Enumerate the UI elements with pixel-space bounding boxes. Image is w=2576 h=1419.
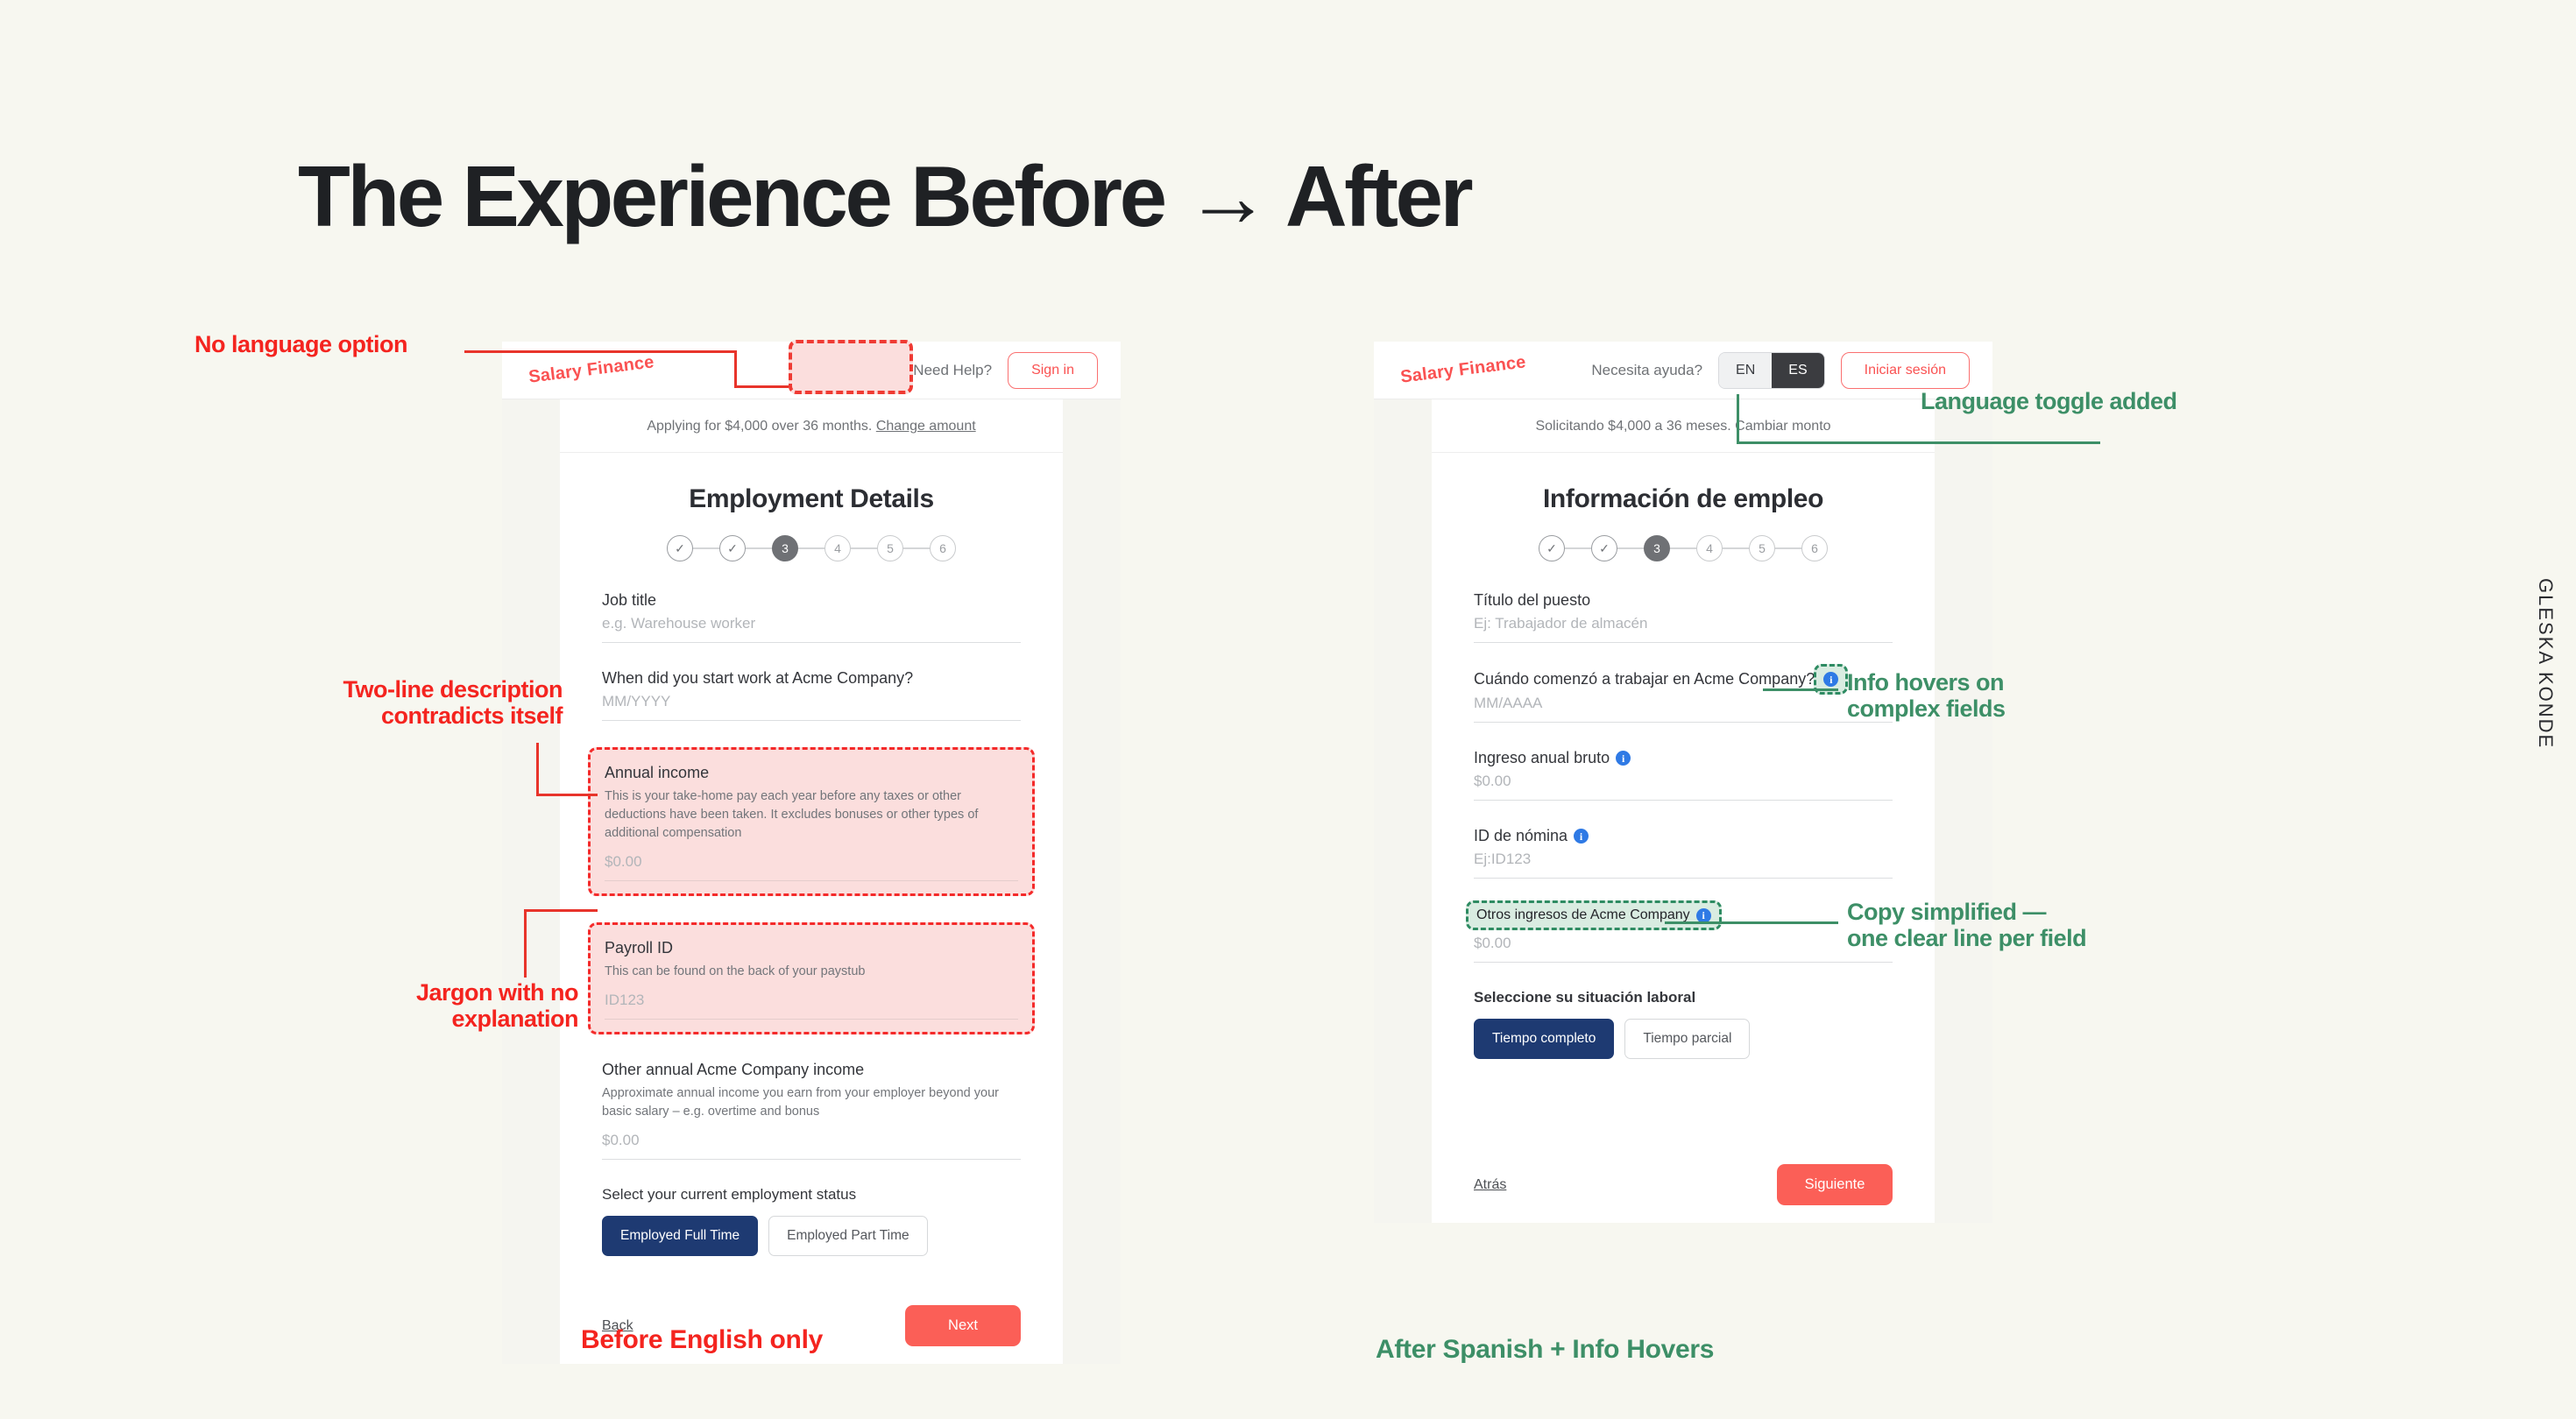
after-body-shell: Solicitando $4,000 a 36 meses. Cambiar m… <box>1374 399 1992 1223</box>
step-divider <box>1565 547 1591 549</box>
employment-status-label: Seleccione su situación laboral <box>1474 989 1893 1006</box>
need-help-link[interactable]: Need Help? <box>913 362 992 379</box>
job-title-input[interactable]: e.g. Warehouse worker <box>602 615 1021 643</box>
annotation-jargon: Jargon with no explanation <box>280 979 578 1032</box>
field-label: Annual income <box>605 764 1018 782</box>
annotation-two-line: Two-line description contradicts itself <box>230 676 563 729</box>
step-divider <box>693 547 719 549</box>
after-header-actions: Necesita ayuda? EN ES Iniciar sesión <box>1591 352 1970 389</box>
field-job-title: Título del puesto Ej: Trabajador de alma… <box>1474 591 1893 643</box>
back-link[interactable]: Atrás <box>1474 1177 1506 1193</box>
field-label: Other annual Acme Company income <box>602 1061 1021 1079</box>
status-full-time-button[interactable]: Tiempo completo <box>1474 1019 1614 1059</box>
missing-language-toggle-placeholder <box>789 340 913 394</box>
step-6[interactable]: 6 <box>1801 535 1828 561</box>
step-1[interactable]: ✓ <box>1539 535 1565 561</box>
status-part-time-button[interactable]: Employed Part Time <box>768 1216 928 1256</box>
connector-info-hovers <box>1763 688 1838 691</box>
status-full-time-button[interactable]: Employed Full Time <box>602 1216 758 1256</box>
status-part-time-button[interactable]: Tiempo parcial <box>1624 1019 1750 1059</box>
step-4[interactable]: 4 <box>824 535 851 561</box>
step-5[interactable]: 5 <box>877 535 903 561</box>
after-footer: Atrás Siguiente <box>1474 1164 1893 1223</box>
salary-finance-logo: Salary Finance <box>1399 352 1527 387</box>
after-stepper: ✓ ✓ 3 4 5 6 <box>1474 535 1893 561</box>
step-2[interactable]: ✓ <box>1591 535 1617 561</box>
connector-no-language-top <box>464 350 736 353</box>
salary-finance-logo: Salary Finance <box>527 352 655 387</box>
connector-two-line-vert <box>536 743 539 795</box>
field-payroll-id: ID de nómina i Ej:ID123 <box>1474 827 1893 879</box>
step-divider <box>1670 547 1696 549</box>
field-description: This is your take-home pay each year bef… <box>605 787 1018 843</box>
before-stepper: ✓ ✓ 3 4 5 6 <box>602 535 1021 561</box>
copy-simplified-highlight: Otros ingresos de Acme Company i <box>1466 900 1722 930</box>
after-amount-bar[interactable]: Solicitando $4,000 a 36 meses. Cambiar m… <box>1432 399 1935 453</box>
step-divider <box>798 547 824 549</box>
page-title: The Experience Before → After <box>298 147 1470 246</box>
connector-lang-horiz <box>1737 441 2100 444</box>
step-divider <box>1775 547 1801 549</box>
after-page-heading: Información de empleo <box>1474 484 1893 514</box>
field-other-income: Otros ingresos de Acme Company i $0.00 <box>1474 905 1893 963</box>
caption-before: Before English only <box>581 1325 823 1355</box>
field-label: Ingreso anual bruto <box>1474 749 1610 767</box>
connector-two-line-horiz <box>536 794 598 796</box>
page-title-before: The Experience Before <box>298 148 1164 244</box>
annotation-info-hovers-line2: complex fields <box>1847 695 2006 722</box>
step-divider <box>1617 547 1644 549</box>
caption-after: After Spanish + Info Hovers <box>1376 1335 1714 1365</box>
connector-copy-simplified <box>1665 921 1838 924</box>
field-gross-income: Ingreso anual bruto i $0.00 <box>1474 749 1893 801</box>
connector-no-language-bottom <box>734 385 789 388</box>
field-label-row: Cuándo comenzó a trabajar en Acme Compan… <box>1474 669 1893 689</box>
start-date-input[interactable]: MM/YYYY <box>602 693 1021 721</box>
other-income-input[interactable]: $0.00 <box>1474 935 1893 963</box>
annotation-info-hovers: Info hovers on complex fields <box>1847 669 2006 722</box>
field-label: When did you start work at Acme Company? <box>602 669 1021 688</box>
after-header: Salary Finance Necesita ayuda? EN ES Ini… <box>1374 342 1992 399</box>
change-amount-link[interactable]: Change amount <box>876 419 976 434</box>
before-form-card: Applying for $4,000 over 36 months. Chan… <box>560 399 1063 1364</box>
field-description: Approximate annual income you earn from … <box>602 1084 1021 1121</box>
step-5[interactable]: 5 <box>1749 535 1775 561</box>
step-divider <box>746 547 772 549</box>
step-3[interactable]: 3 <box>772 535 798 561</box>
annotation-jargon-line1: Jargon with no <box>280 979 578 1006</box>
before-page-heading: Employment Details <box>602 484 1021 514</box>
after-mock: Salary Finance Necesita ayuda? EN ES Ini… <box>1374 342 1992 1223</box>
connector-jargon-vert <box>524 909 527 978</box>
annual-income-input[interactable]: $0.00 <box>605 853 1018 881</box>
page-title-after: After <box>1285 148 1470 244</box>
step-divider <box>903 547 930 549</box>
step-3[interactable]: 3 <box>1644 535 1670 561</box>
after-form-card: Solicitando $4,000 a 36 meses. Cambiar m… <box>1432 399 1935 1223</box>
field-start-date: When did you start work at Acme Company?… <box>602 669 1021 721</box>
other-income-input[interactable]: $0.00 <box>602 1132 1021 1160</box>
annotation-copy-simplified-line2: one clear line per field <box>1847 925 2086 951</box>
job-title-input[interactable]: Ej: Trabajador de almacén <box>1474 615 1893 643</box>
payroll-id-input[interactable]: Ej:ID123 <box>1474 851 1893 879</box>
field-label: ID de nómina <box>1474 827 1568 845</box>
field-label: Payroll ID <box>605 939 1018 957</box>
next-button[interactable]: Siguiente <box>1777 1164 1893 1205</box>
field-label: Otros ingresos de Acme Company <box>1476 907 1690 923</box>
annotation-language-toggle: Language toggle added <box>1921 388 2177 414</box>
sign-in-button[interactable]: Sign in <box>1008 352 1098 389</box>
annotation-copy-simplified: Copy simplified — one clear line per fie… <box>1847 899 2086 951</box>
info-icon[interactable]: i <box>1616 751 1631 766</box>
side-brand-label: GLESKA KONDE <box>2534 578 2557 749</box>
before-amount-text: Applying for $4,000 over 36 months. <box>647 419 876 434</box>
annotation-jargon-line2: explanation <box>280 1006 578 1032</box>
annotation-no-language: No language option <box>195 331 407 357</box>
field-job-title: Job title e.g. Warehouse worker <box>602 591 1021 643</box>
before-amount-bar: Applying for $4,000 over 36 months. Chan… <box>560 399 1063 453</box>
step-4[interactable]: 4 <box>1696 535 1723 561</box>
employment-status-label: Select your current employment status <box>602 1186 1021 1204</box>
info-icon[interactable]: i <box>1823 672 1838 687</box>
field-annual-income: Annual income This is your take-home pay… <box>588 747 1035 896</box>
annotation-two-line-line1: Two-line description <box>230 676 563 702</box>
field-payroll-id: Payroll ID This can be found on the back… <box>588 922 1035 1034</box>
step-divider <box>1723 547 1749 549</box>
field-label: Cuándo comenzó a trabajar en Acme Compan… <box>1474 670 1815 688</box>
step-divider <box>851 547 877 549</box>
payroll-id-input[interactable]: ID123 <box>605 992 1018 1020</box>
info-icon[interactable]: i <box>1696 908 1711 923</box>
connector-lang-vert <box>1737 394 1739 443</box>
field-label: Job title <box>602 591 1021 610</box>
sign-in-button[interactable]: Iniciar sesión <box>1841 352 1970 389</box>
field-other-income: Other annual Acme Company income Approxi… <box>602 1061 1021 1160</box>
field-label-row: Ingreso anual bruto i <box>1474 749 1893 767</box>
field-start-date: Cuándo comenzó a trabajar en Acme Compan… <box>1474 669 1893 723</box>
step-1[interactable]: ✓ <box>667 535 693 561</box>
employment-status-group: Employed Full Time Employed Part Time <box>602 1216 1021 1256</box>
field-label: Título del puesto <box>1474 591 1893 610</box>
employment-status-group: Tiempo completo Tiempo parcial <box>1474 1019 1893 1059</box>
connector-no-language-vert <box>734 350 737 387</box>
language-option-en[interactable]: EN <box>1719 353 1772 388</box>
before-mock: Salary Finance Need Help? Sign in Applyi… <box>502 342 1121 1364</box>
step-2[interactable]: ✓ <box>719 535 746 561</box>
annotation-copy-simplified-line1: Copy simplified — <box>1847 899 2086 925</box>
annotation-info-hovers-line1: Info hovers on <box>1847 669 2006 695</box>
info-icon[interactable]: i <box>1574 829 1589 844</box>
connector-jargon-horiz <box>524 909 598 912</box>
before-body-shell: Applying for $4,000 over 36 months. Chan… <box>502 399 1121 1364</box>
step-6[interactable]: 6 <box>930 535 956 561</box>
before-header-actions: Need Help? Sign in <box>913 352 1098 389</box>
language-toggle[interactable]: EN ES <box>1718 352 1825 389</box>
start-date-input[interactable]: MM/AAAA <box>1474 695 1893 723</box>
annotation-two-line-line2: contradicts itself <box>230 702 563 729</box>
language-option-es[interactable]: ES <box>1772 353 1823 388</box>
field-description: This can be found on the back of your pa… <box>605 963 1018 981</box>
need-help-link[interactable]: Necesita ayuda? <box>1591 362 1702 379</box>
next-button[interactable]: Next <box>905 1305 1021 1346</box>
gross-income-input[interactable]: $0.00 <box>1474 773 1893 801</box>
field-label-row: ID de nómina i <box>1474 827 1893 845</box>
arrow-right-icon: → <box>1185 148 1268 244</box>
